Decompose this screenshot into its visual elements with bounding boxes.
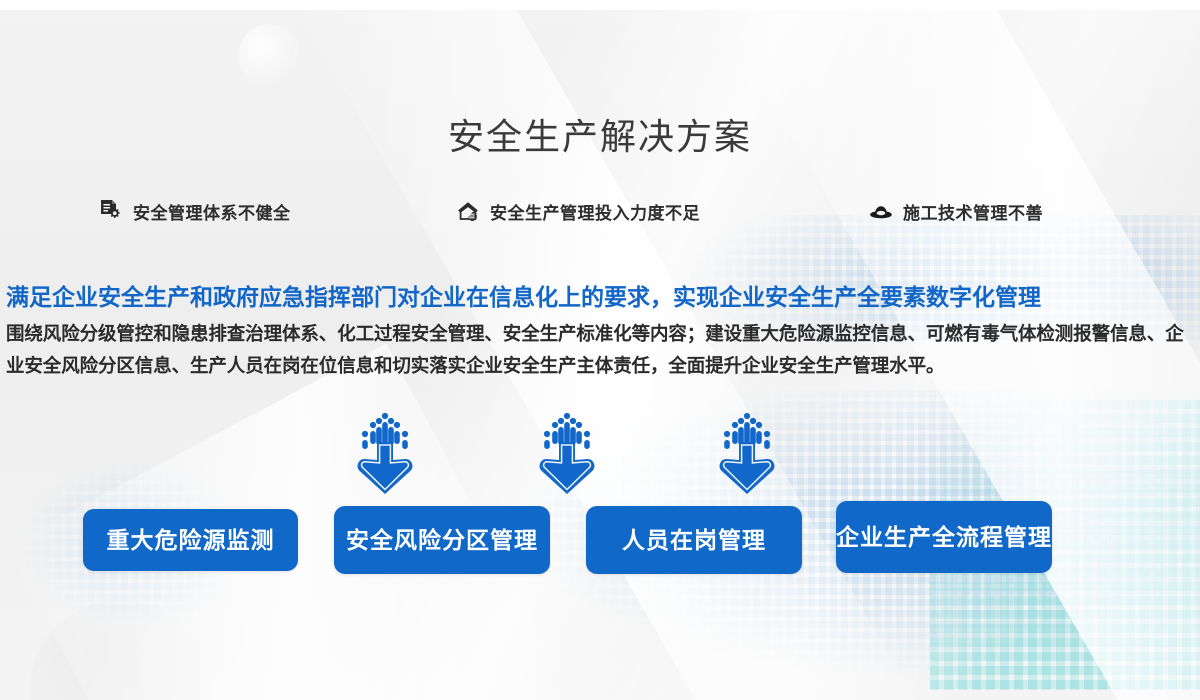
pain-point-item-investment: 安全生产管理投入力度不足 bbox=[455, 198, 700, 224]
pain-point-label: 施工技术管理不善 bbox=[903, 199, 1043, 224]
pain-point-item-construction-tech: 施工技术管理不善 bbox=[868, 198, 1043, 224]
body-paragraph: 围绕风险分级管控和隐患排查治理体系、化工过程安全管理、安全生产标准化等内容；建设… bbox=[6, 318, 1196, 382]
page-title: 安全生产解决方案 bbox=[0, 108, 1200, 160]
safety-helmet-icon bbox=[868, 198, 894, 224]
document-gear-icon bbox=[98, 198, 124, 224]
down-arrow-icon bbox=[527, 408, 607, 498]
pain-point-list: 安全管理体系不健全 安全生产管理投入力度不足 bbox=[0, 198, 1200, 232]
down-arrow-icon bbox=[345, 408, 425, 498]
module-card-risk-zone-management[interactable]: 安全风险分区管理 bbox=[334, 506, 550, 574]
pain-point-label: 安全管理体系不健全 bbox=[133, 199, 291, 224]
module-card-major-hazard-monitoring[interactable]: 重大危险源监测 bbox=[83, 509, 298, 571]
top-white-strip bbox=[0, 0, 1200, 10]
background-circle-decoration bbox=[238, 24, 302, 88]
module-card-full-process-management[interactable]: 企业生产全流程管理 bbox=[836, 501, 1052, 573]
pain-point-item-management-system: 安全管理体系不健全 bbox=[98, 198, 291, 224]
lead-statement: 满足企业安全生产和政府应急指挥部门对企业在信息化上的要求，实现企业安全生产全要素… bbox=[6, 278, 1196, 312]
module-card-personnel-on-duty[interactable]: 人员在岗管理 bbox=[586, 506, 802, 574]
down-arrow-icon bbox=[707, 408, 787, 498]
house-money-icon bbox=[455, 198, 481, 224]
slide-canvas: 安全生产解决方案 安全管理体系不健全 bbox=[0, 0, 1200, 700]
pain-point-label: 安全生产管理投入力度不足 bbox=[490, 199, 700, 224]
